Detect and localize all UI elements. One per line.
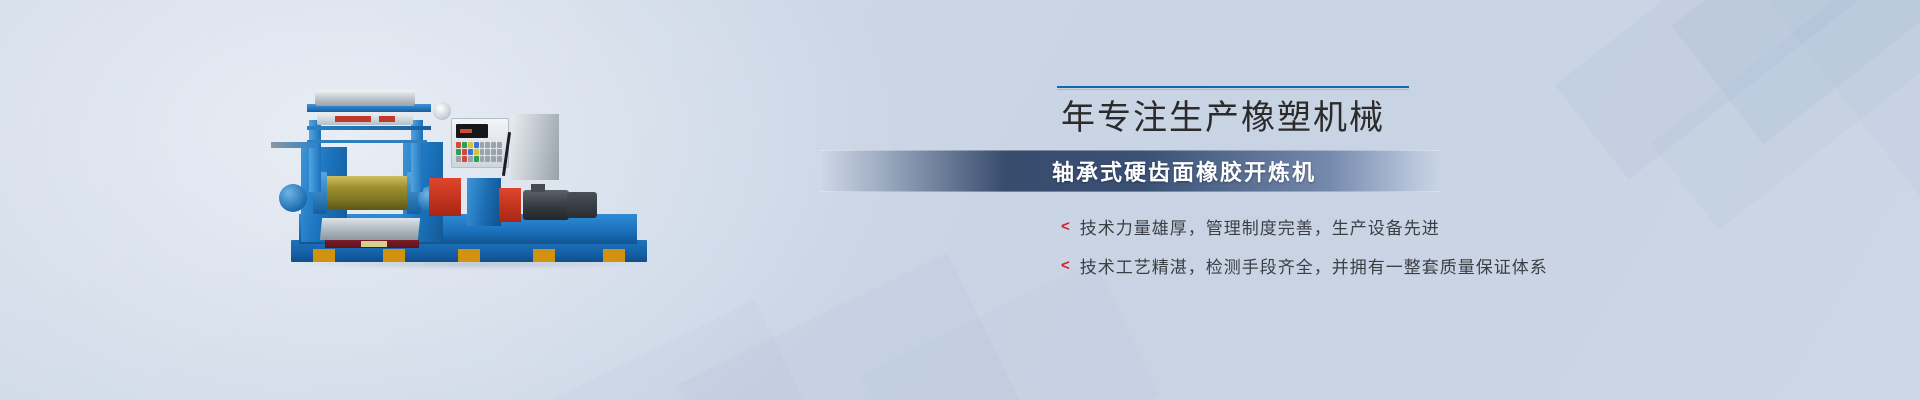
feature-list: < 技术力量雄厚，管理制度完善，生产设备先进 < 技术工艺精湛，检测手段齐全，并… [1015,214,1715,278]
machine-control-panel [451,118,509,168]
machine-red-band-1 [335,116,371,122]
machine-skid [533,249,555,262]
machine-skid [603,249,625,262]
machine-red-band-2 [379,116,395,122]
machine-skid [383,249,405,262]
list-item: < 技术工艺精湛，检测手段齐全，并拥有一整套质量保证体系 [1061,253,1715,278]
machine-skid [313,249,335,262]
rubber-open-mixing-mill-photo [283,96,663,262]
machine-nameplate [361,241,387,247]
machine-upper-arm [307,126,431,130]
feature-text: 技术工艺精湛，检测手段齐全，并拥有一整套质量保证体系 [1080,253,1548,278]
machine-side-arm [271,142,315,148]
chevron-left-icon: < [1061,258,1070,273]
machine-motor-rear [567,192,597,218]
subtitle-bar: 轴承式硬齿面橡胶开炼机 [820,150,1440,192]
diagonal-polygon-bottom-1 [678,253,1022,400]
machine-red-housing-1 [429,178,461,216]
machine-panel-buttons [456,142,502,162]
machine-column-left [309,120,321,192]
machine-tray [320,218,420,240]
diagonal-polygon-bottom-3 [539,300,820,400]
machine-cabinet [511,114,559,180]
machine-panel-screen [456,124,488,138]
machine-main-roller [321,176,413,210]
hero-banner: 年专注生产橡塑机械 轴承式硬齿面橡胶开炼机 < 技术力量雄厚，管理制度完善，生产… [0,0,1920,400]
subtitle-text: 轴承式硬齿面橡胶开炼机 [1052,155,1316,187]
machine-top-roller [315,90,415,106]
list-item: < 技术力量雄厚，管理制度完善，生产设备先进 [1061,214,1715,239]
machine-drum-left [279,184,307,212]
machine-motor-terminal-box [531,184,545,192]
feature-text: 技术力量雄厚，管理制度完善，生产设备先进 [1080,214,1440,239]
machine-gearbox [467,178,501,226]
machine-skid [458,249,480,262]
machine-motor [523,190,569,220]
page-title: 年专注生产橡塑机械 [1015,96,1715,142]
machine-column-right [411,120,423,192]
title-rule [1057,86,1409,88]
chevron-left-icon: < [1061,219,1070,234]
machine-fan [433,102,451,120]
diagonal-polygon-top-right-4 [1763,0,1920,232]
machine-lower-arm [307,140,427,143]
title-rule-shadow [1057,89,1409,90]
machine-red-housing-2 [499,188,521,222]
banner-text-block: 年专注生产橡塑机械 轴承式硬齿面橡胶开炼机 < 技术力量雄厚，管理制度完善，生产… [1015,86,1715,292]
